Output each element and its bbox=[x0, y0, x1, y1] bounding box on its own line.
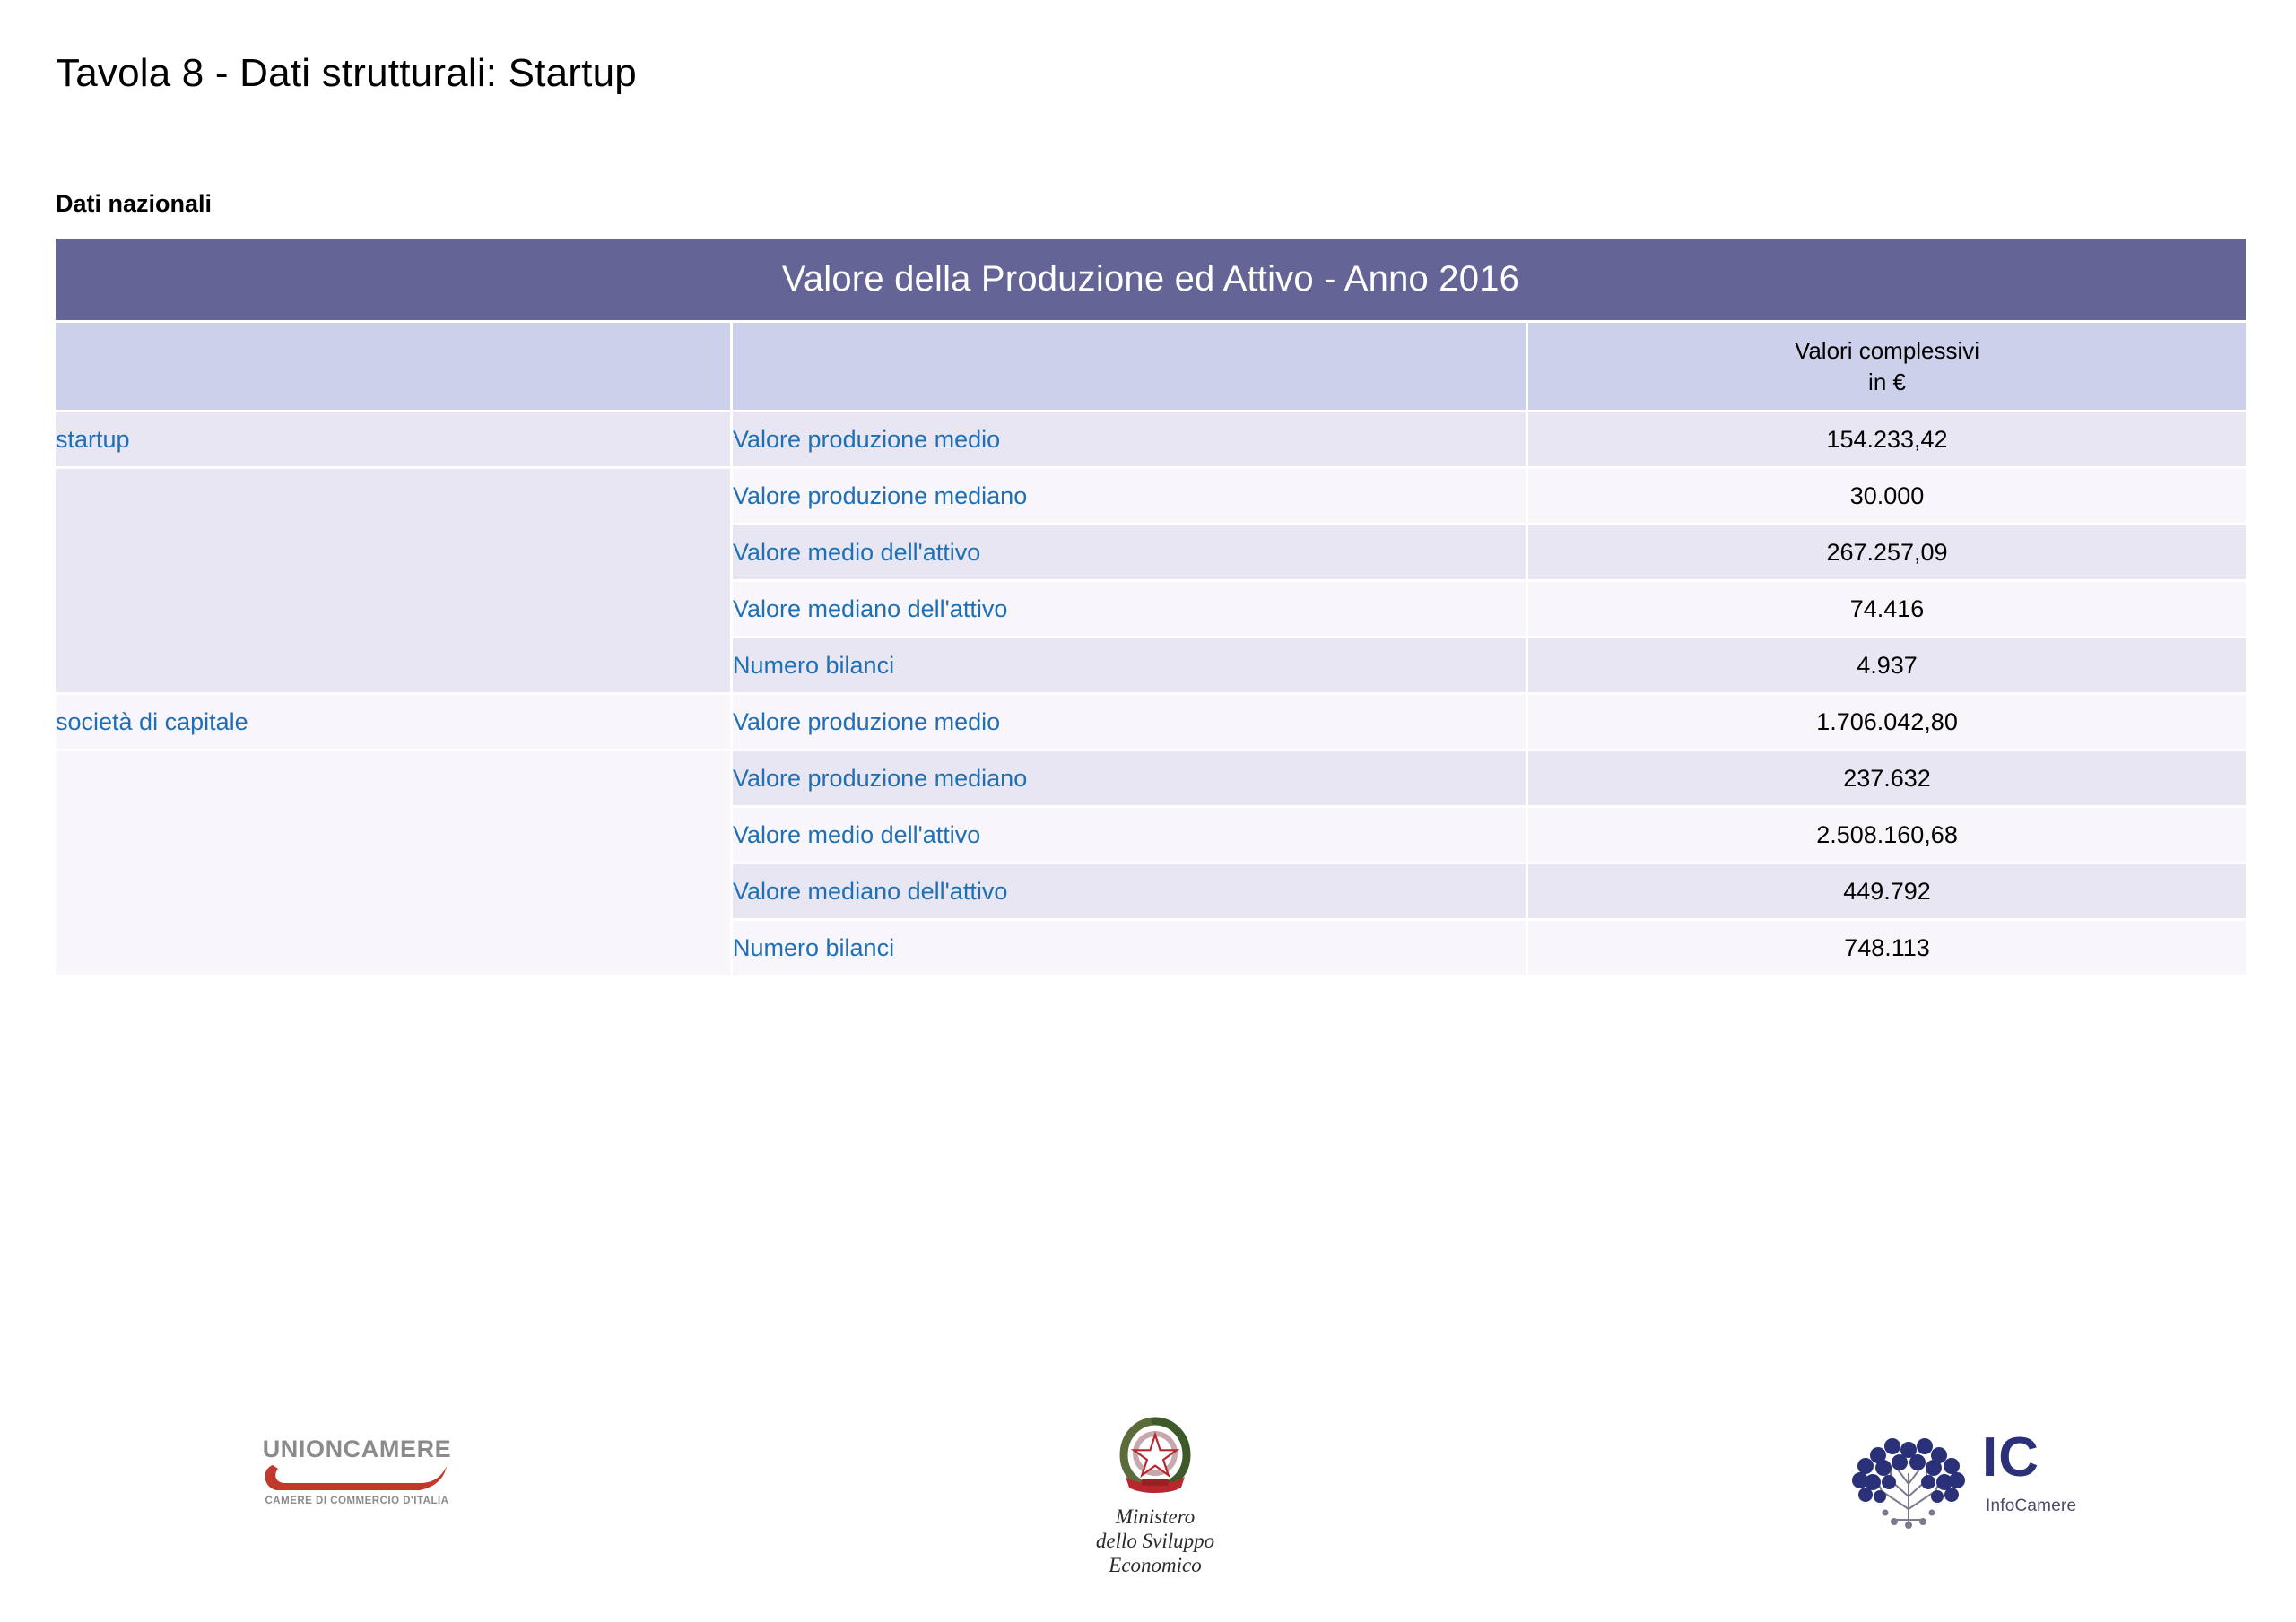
startup-structural-data-table: Valore della Produzione ed Attivo - Anno… bbox=[53, 236, 2248, 977]
unioncamere-tagline: CAMERE DI COMMERCIO D'ITALIA bbox=[262, 1496, 452, 1506]
data-table-wrapper: Valore della Produzione ed Attivo - Anno… bbox=[56, 239, 2240, 975]
metric-label: Valore produzione medio bbox=[733, 412, 1526, 466]
header-value-line-2: in € bbox=[1528, 367, 2246, 397]
metric-label: Valore medio dell'attivo bbox=[733, 525, 1526, 579]
metric-label: Valore produzione mediano bbox=[733, 751, 1526, 805]
table-header-row: Valori complessivi in € bbox=[56, 323, 2246, 410]
metric-value: 267.257,09 bbox=[1528, 525, 2246, 579]
ministero-line-1: Ministero bbox=[1048, 1505, 1263, 1529]
header-value-column: Valori complessivi in € bbox=[1528, 323, 2246, 410]
table-row: società di capitale Valore produzione me… bbox=[56, 695, 2246, 749]
table-banner-row: Valore della Produzione ed Attivo - Anno… bbox=[56, 239, 2246, 320]
section-subtitle: Dati nazionali bbox=[56, 190, 212, 218]
unioncamere-swoosh-icon bbox=[262, 1463, 452, 1494]
header-group-blank bbox=[56, 323, 730, 410]
header-metric-blank bbox=[733, 323, 1526, 410]
ministero-line-2: dello Sviluppo Economico bbox=[1048, 1529, 1263, 1577]
report-page: Tavola 8 - Dati strutturali: Startup Dat… bbox=[0, 0, 2296, 1622]
unioncamere-logo: UNIONCAMERE CAMERE DI COMMERCIO D'ITALIA bbox=[262, 1437, 452, 1506]
group-label-societa-di-capitale: società di capitale bbox=[56, 695, 730, 749]
ministero-logo: Ministero dello Sviluppo Economico bbox=[1048, 1412, 1263, 1577]
metric-value: 1.706.042,80 bbox=[1528, 695, 2246, 749]
page-title: Tavola 8 - Dati strutturali: Startup bbox=[56, 51, 637, 96]
metric-label: Numero bilanci bbox=[733, 921, 1526, 975]
infocamere-circuit-tree-icon bbox=[1846, 1427, 1971, 1529]
metric-label: Valore medio dell'attivo bbox=[733, 808, 1526, 862]
metric-label: Valore mediano dell'attivo bbox=[733, 582, 1526, 636]
italian-republic-emblem-icon bbox=[1106, 1412, 1205, 1498]
infocamere-name: InfoCamere bbox=[1986, 1496, 2076, 1516]
metric-label: Valore produzione mediano bbox=[733, 469, 1526, 523]
table-row: startup Valore produzione medio 154.233,… bbox=[56, 412, 2246, 466]
metric-value: 74.416 bbox=[1528, 582, 2246, 636]
metric-label: Valore mediano dell'attivo bbox=[733, 864, 1526, 918]
metric-value: 2.508.160,68 bbox=[1528, 808, 2246, 862]
metric-value: 237.632 bbox=[1528, 751, 2246, 805]
infocamere-logo: IC InfoCamere bbox=[1846, 1427, 2079, 1534]
metric-label: Valore produzione medio bbox=[733, 695, 1526, 749]
table-row: Valore produzione mediano 237.632 bbox=[56, 751, 2246, 805]
metric-value: 4.937 bbox=[1528, 638, 2246, 692]
metric-value: 30.000 bbox=[1528, 469, 2246, 523]
infocamere-letters: IC bbox=[1982, 1430, 2039, 1486]
group-spacer-startup bbox=[56, 469, 730, 692]
table-row: Valore produzione mediano 30.000 bbox=[56, 469, 2246, 523]
group-spacer-societa-di-capitale bbox=[56, 751, 730, 975]
metric-value: 449.792 bbox=[1528, 864, 2246, 918]
metric-value: 154.233,42 bbox=[1528, 412, 2246, 466]
metric-value: 748.113 bbox=[1528, 921, 2246, 975]
header-value-line-1: Valori complessivi bbox=[1795, 337, 1979, 364]
metric-label: Numero bilanci bbox=[733, 638, 1526, 692]
unioncamere-wordmark: UNIONCAMERE bbox=[262, 1437, 452, 1462]
group-label-startup: startup bbox=[56, 412, 730, 466]
table-banner-title: Valore della Produzione ed Attivo - Anno… bbox=[56, 239, 2246, 320]
footer-logos: UNIONCAMERE CAMERE DI COMMERCIO D'ITALIA bbox=[0, 1394, 2296, 1622]
